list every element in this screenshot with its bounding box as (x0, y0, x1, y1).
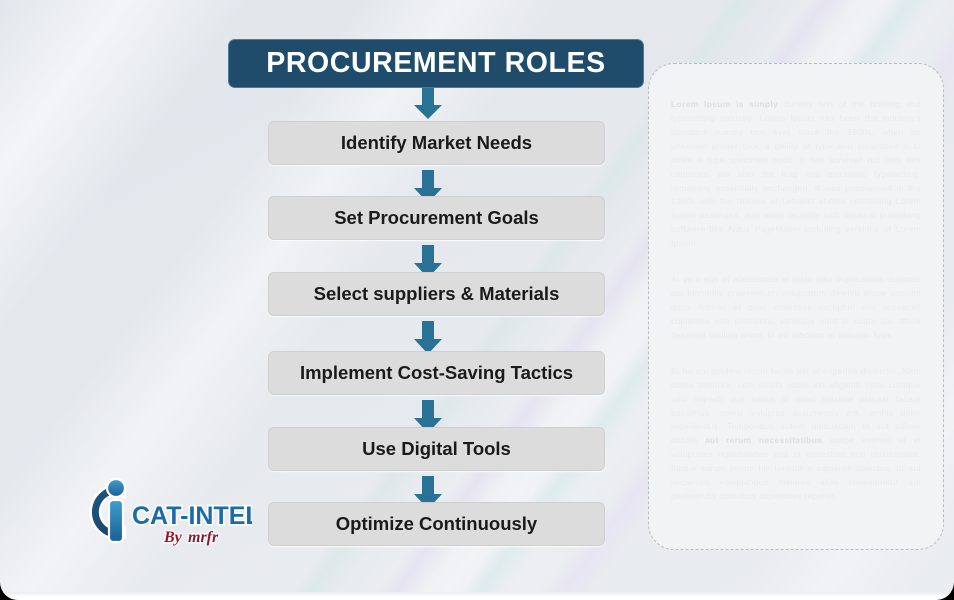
logo-person-body (109, 500, 123, 542)
flow-step-1[interactable]: Identify Market Needs (268, 121, 605, 165)
panel-paragraph-3-before: Et harum quidem rerum facilis est et exp… (671, 366, 921, 446)
panel-paragraph-1-lead: Lorem Ipsum is simply (671, 99, 778, 109)
flow-step-4-label: Implement Cost-Saving Tactics (300, 364, 573, 383)
logo-brand-text: CAT-INTEL (132, 502, 252, 530)
flow-step-5[interactable]: Use Digital Tools (268, 427, 605, 471)
flow-step-1-label: Identify Market Needs (341, 134, 532, 153)
flow-step-3-label: Select suppliers & Materials (314, 285, 560, 304)
flow-arrow-0 (408, 88, 448, 120)
flow-step-3[interactable]: Select suppliers & Materials (268, 272, 605, 316)
cat-intel-logo[interactable]: CAT-INTEL By mrfr (80, 474, 252, 546)
description-panel: Lorem Ipsum is simply dummy text of the … (648, 63, 944, 550)
flow-step-6-label: Optimize Continuously (336, 515, 537, 534)
slide-canvas: PROCUREMENT ROLES Identify Market Needs … (0, 0, 954, 600)
flow-step-5-label: Use Digital Tools (362, 440, 511, 459)
flow-step-2-label: Set Procurement Goals (334, 209, 539, 228)
flow-arrow-3 (408, 321, 448, 355)
panel-paragraph-3: Et harum quidem rerum facilis est et exp… (671, 365, 921, 504)
panel-paragraph-1-rest: dummy text of the printing and typesetti… (671, 99, 921, 248)
page-title: PROCUREMENT ROLES (266, 49, 606, 78)
logo-by-name: mrfr (188, 529, 219, 546)
flow-step-4[interactable]: Implement Cost-Saving Tactics (268, 351, 605, 395)
panel-paragraph-3-bold: aut rerum necessitatibus (705, 435, 822, 445)
flow-step-6[interactable]: Optimize Continuously (268, 502, 605, 546)
logo-by-word: By (163, 529, 183, 546)
slide-title-bar: PROCUREMENT ROLES (228, 39, 644, 88)
flow-step-2[interactable]: Set Procurement Goals (268, 196, 605, 240)
panel-paragraph-2: At vero eos et accusamus et iusto odio d… (671, 273, 921, 343)
logo-person-head (107, 479, 125, 497)
slide-bottom-edge (0, 592, 954, 600)
panel-paragraph-1: Lorem Ipsum is simply dummy text of the … (671, 98, 921, 251)
